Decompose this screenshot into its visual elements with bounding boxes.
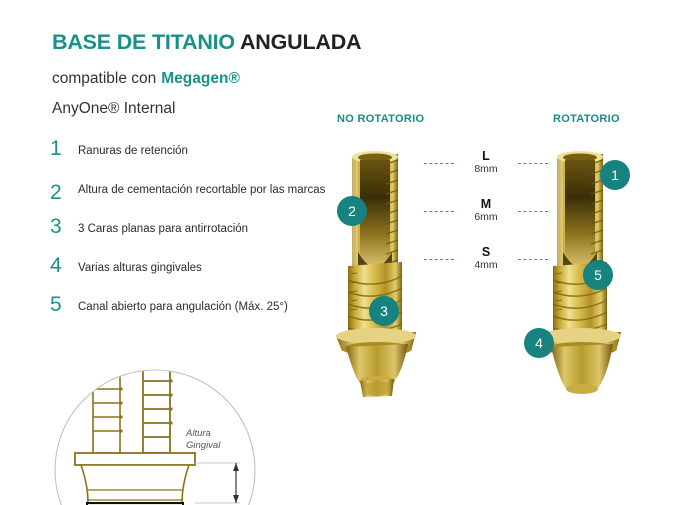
feature-number: 3 [50,216,72,237]
gingival-height-inset [40,345,275,505]
size-scale: L 8mm M 6mm S 4mm [455,150,517,294]
badge-3[interactable]: 3 [369,296,399,326]
feature-text: 3 Caras planas para antirrotación [78,223,248,235]
implant-render-no-rotatorio [330,140,440,400]
compatibility-label: compatible con [52,70,156,87]
badge-5[interactable]: 5 [583,260,613,290]
badge-1[interactable]: 1 [600,160,630,190]
feature-number: 4 [50,255,72,276]
infographic-page: BASE DE TITANIO ANGULADA compatible conM… [0,0,700,500]
size-label: M [455,198,517,211]
gingival-label-line1: Altura [186,428,242,440]
implant-system-label: AnyOne® Internal [52,100,175,118]
badge-2[interactable]: 2 [337,196,367,226]
list-item: 3 3 Caras planas para antirrotación [50,219,335,241]
size-label: L [455,150,517,163]
feature-number: 2 [50,182,72,203]
feature-list: 1 Ranuras de retención 2 Altura de cemen… [50,141,335,336]
size-entry-l: L 8mm [455,150,517,198]
feature-text: Canal abierto para angulación (Máx. 25°) [78,301,288,313]
badge-4[interactable]: 4 [524,328,554,358]
size-value: 8mm [455,163,517,175]
gingival-label-line2: Gingival [186,440,242,452]
column-header-rotatorio: ROTATORIO [553,113,620,125]
page-title: BASE DE TITANIO ANGULADA [52,30,361,55]
feature-number: 1 [50,138,72,159]
list-item: 1 Ranuras de retención [50,141,335,163]
page-title-accent: BASE DE TITANIO [52,30,235,54]
feature-text: Ranuras de retención [78,145,188,157]
list-item: 5 Canal abierto para angulación (Máx. 25… [50,297,335,319]
size-entry-s: S 4mm [455,246,517,294]
compatibility-line: compatible conMegagen® [52,70,240,88]
column-header-no-rotatorio: NO ROTATORIO [337,113,424,125]
gingival-height-label: Altura Gingival [186,428,242,452]
feature-number: 5 [50,294,72,315]
feature-text: Varias alturas gingivales [78,262,202,274]
size-value: 6mm [455,211,517,223]
list-item: 2 Altura de cementación recortable por l… [50,180,335,202]
brand-name: Megagen® [161,70,240,87]
size-entry-m: M 6mm [455,198,517,246]
page-title-plain: ANGULADA [240,30,361,54]
feature-text: Altura de cementación recortable por las… [78,184,325,196]
size-value: 4mm [455,259,517,271]
size-label: S [455,246,517,259]
list-item: 4 Varias alturas gingivales [50,258,335,280]
